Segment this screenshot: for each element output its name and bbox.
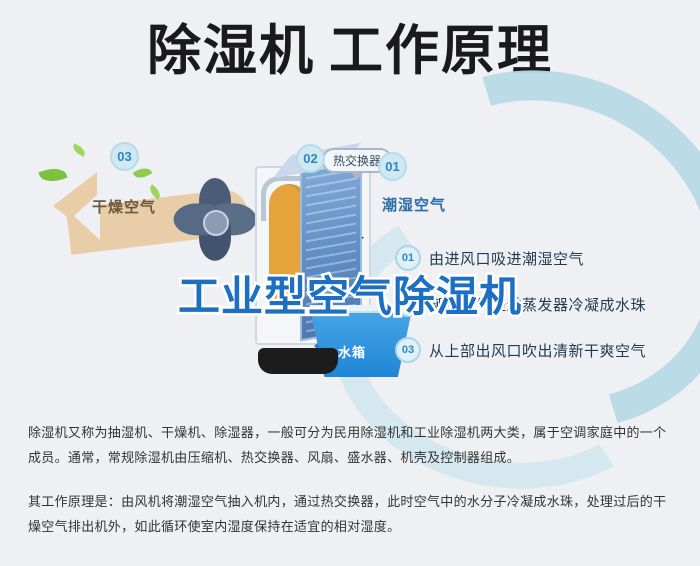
product-watermark: 工业型空气除湿机: [0, 263, 700, 324]
fan-icon: [165, 172, 263, 268]
step-text: 从上部出风口吹出清新干爽空气: [429, 340, 646, 361]
step-number: 03: [395, 337, 421, 363]
description-paragraph-1: 除湿机又称为抽湿机、干燥机、除湿器，一般可分为民用除湿机和工业除湿机两大类，属于…: [28, 420, 676, 471]
water-tank-label: 水箱: [338, 342, 366, 361]
diagram-badge-01: 01: [378, 152, 407, 181]
list-item: 03 从上部出风口吹出清新干爽空气: [395, 337, 685, 363]
page-title-part1: 除湿机: [147, 21, 315, 81]
machine-base: [258, 348, 338, 374]
dry-air-label: 干燥空气: [92, 196, 156, 217]
infographic-page: 除湿机工作原理 干燥空气: [0, 0, 700, 566]
page-title: 除湿机工作原理: [0, 22, 700, 81]
description-paragraph-2: 其工作原理是：由风机将潮湿空气抽入机内，通过热交换器，此时空气中的水分子冷凝成水…: [28, 489, 676, 540]
moist-air-label: 潮湿空气: [382, 194, 446, 215]
diagram-badge-02: 02: [296, 144, 325, 173]
description-block: 除湿机又称为抽湿机、干燥机、除湿器，一般可分为民用除湿机和工业除湿机两大类，属于…: [28, 420, 676, 557]
fan-hub: [203, 210, 229, 236]
diagram-badge-03: 03: [110, 142, 139, 171]
